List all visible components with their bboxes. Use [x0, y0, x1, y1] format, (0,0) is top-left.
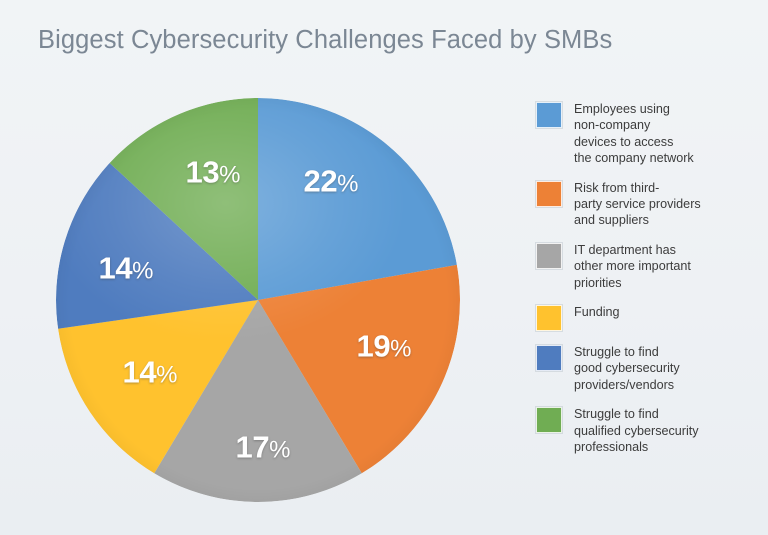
legend-swatch-icon: [536, 345, 562, 371]
pie-slice-1[interactable]: [258, 98, 457, 300]
slice-label-funding: 14%: [122, 357, 177, 388]
slice-value: 19: [356, 329, 390, 364]
legend-struggle-find-providers[interactable]: Struggle to find good cybersecurity prov…: [536, 344, 758, 393]
legend-employees-non-company-devices[interactable]: Employees using non-company devices to a…: [536, 101, 758, 167]
legend-label: Funding: [574, 304, 620, 320]
legend-swatch-icon: [536, 305, 562, 331]
legend-swatch-icon: [536, 243, 562, 269]
legend-swatch-icon: [536, 181, 562, 207]
legend-it-priorities[interactable]: IT department has other more important p…: [536, 242, 758, 291]
percent-sign: %: [269, 437, 290, 464]
legend-label: IT department has other more important p…: [574, 242, 691, 291]
percent-sign: %: [337, 171, 358, 198]
legend-struggle-find-professionals[interactable]: Struggle to find qualified cybersecurity…: [536, 406, 758, 455]
page-title: Biggest Cybersecurity Challenges Faced b…: [38, 26, 612, 55]
percent-sign: %: [390, 336, 411, 363]
chart-page: Biggest Cybersecurity Challenges Faced b…: [0, 0, 768, 535]
legend-label: Struggle to find good cybersecurity prov…: [574, 344, 680, 393]
percent-sign: %: [219, 162, 240, 189]
percent-sign: %: [132, 258, 153, 285]
legend-label: Risk from third- party service providers…: [574, 180, 701, 229]
slice-value: 14: [98, 251, 132, 286]
slice-value: 17: [235, 430, 269, 465]
slice-label-struggle-find-providers: 14%: [98, 253, 153, 284]
legend-label: Employees using non-company devices to a…: [574, 101, 694, 167]
slice-value: 22: [303, 164, 337, 199]
legend-swatch-icon: [536, 102, 562, 128]
slice-value: 13: [185, 155, 219, 190]
slice-label-struggle-find-professionals: 13%: [185, 157, 240, 188]
percent-sign: %: [156, 362, 177, 389]
legend-funding[interactable]: Funding: [536, 304, 758, 331]
legend-label: Struggle to find qualified cybersecurity…: [574, 406, 699, 455]
slice-label-employees-non-company-devices: 22%: [303, 166, 358, 197]
slice-label-it-priorities: 17%: [235, 432, 290, 463]
legend-third-party-risk[interactable]: Risk from third- party service providers…: [536, 180, 758, 229]
slice-value: 14: [122, 355, 156, 390]
legend-swatch-icon: [536, 407, 562, 433]
slice-label-third-party-risk: 19%: [356, 331, 411, 362]
chart-legend: Employees using non-company devices to a…: [536, 101, 758, 469]
